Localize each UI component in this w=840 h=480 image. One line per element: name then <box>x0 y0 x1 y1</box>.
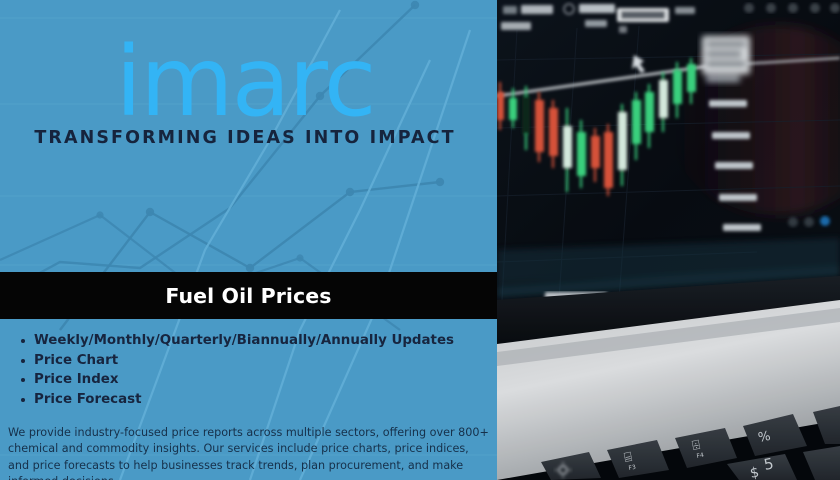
logo-wordmark: imarc <box>115 38 374 126</box>
description-paragraph: We provide industry-focused price report… <box>8 425 490 480</box>
page-title-band: Fuel Oil Prices <box>0 272 497 319</box>
feature-list: Weekly/Monthly/Quarterly/Biannually/Annu… <box>0 331 497 409</box>
list-item: Price Index <box>34 370 497 390</box>
list-item: Price Forecast <box>34 390 497 410</box>
list-item: Weekly/Monthly/Quarterly/Biannually/Annu… <box>34 331 497 351</box>
laptop-trading-chart-photo: ⌸ F3 ⌹ F4 % 5 $ <box>497 0 840 480</box>
list-item: Price Chart <box>34 351 497 371</box>
page-title: Fuel Oil Prices <box>165 284 331 308</box>
price-report-banner: imarc TRANSFORMING IDEAS INTO IMPACT Fue… <box>0 0 840 480</box>
left-content-panel: imarc TRANSFORMING IDEAS INTO IMPACT Fue… <box>0 0 497 480</box>
brand-logo: imarc TRANSFORMING IDEAS INTO IMPACT <box>0 38 490 148</box>
